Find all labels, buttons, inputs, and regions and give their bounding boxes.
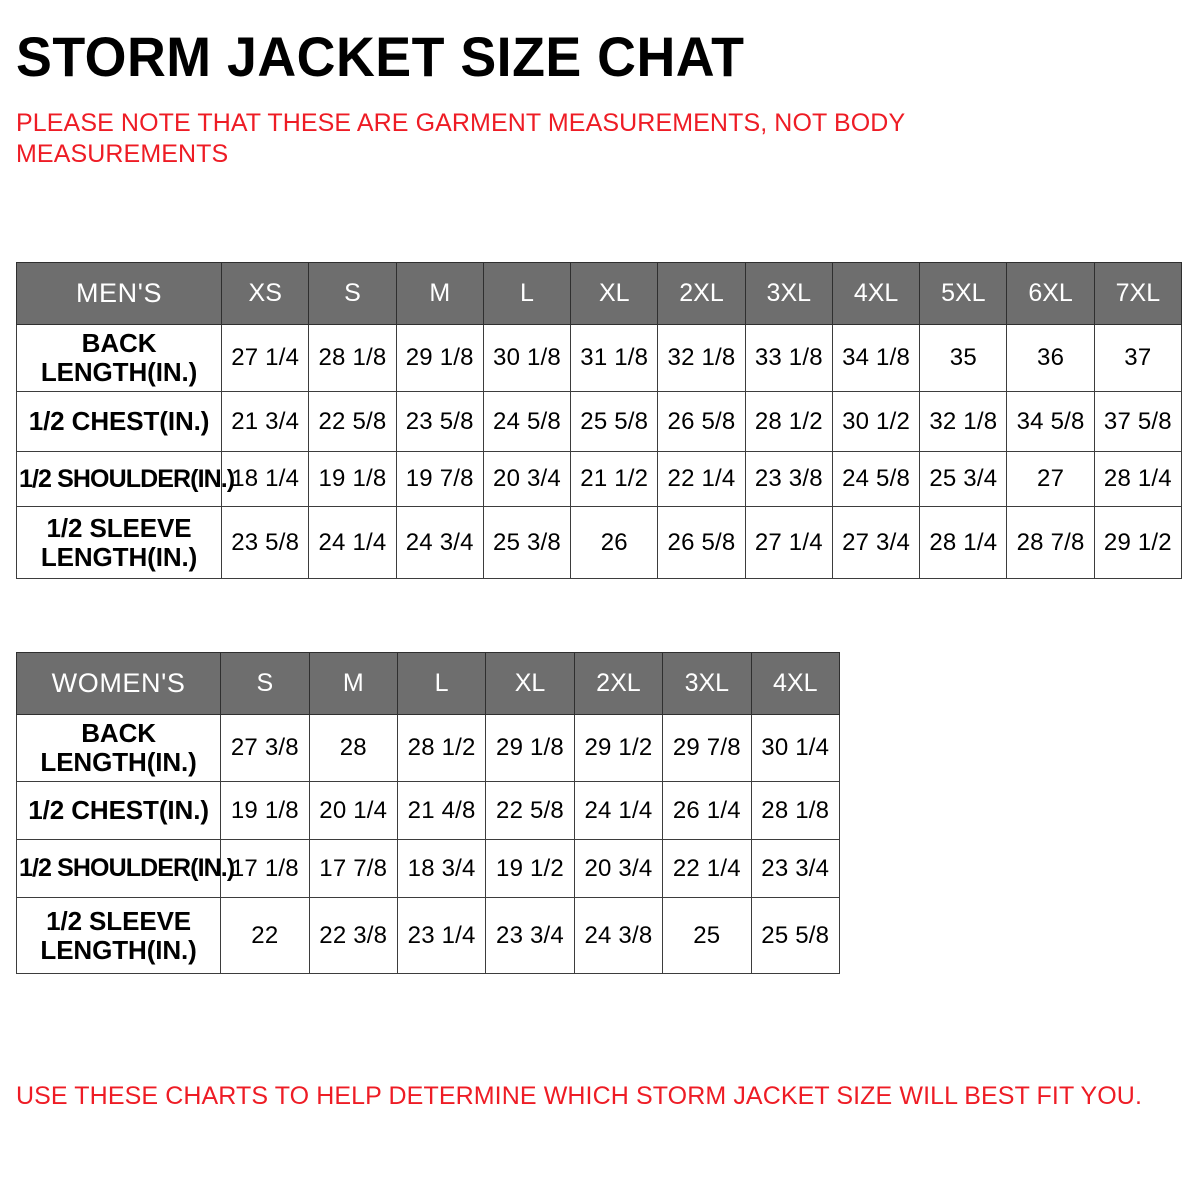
cell-mens-back-xs: 27 1/4 bbox=[222, 325, 309, 392]
cell-mens-back-l: 30 1/8 bbox=[483, 325, 570, 392]
cell-mens-sleeve-7xl: 29 1/2 bbox=[1094, 507, 1181, 579]
mens-header-size-2xl: 2XL bbox=[658, 263, 745, 325]
cell-womens-sleeve-4xl: 25 5/8 bbox=[751, 898, 840, 974]
table-row: BACK LENGTH(IN.) 27 3/8 28 28 1/2 29 1/8… bbox=[17, 715, 840, 782]
row-label-line-2: LENGTH(IN.) bbox=[19, 358, 219, 387]
cell-mens-back-2xl: 32 1/8 bbox=[658, 325, 745, 392]
cell-mens-shoulder-3xl: 23 3/8 bbox=[745, 452, 832, 507]
mens-header-size-xs: XS bbox=[222, 263, 309, 325]
cell-womens-back-l: 28 1/2 bbox=[397, 715, 485, 782]
table-header-row: WOMEN'S S M L XL 2XL 3XL 4XL bbox=[17, 653, 840, 715]
cell-mens-chest-4xl: 30 1/2 bbox=[832, 392, 919, 452]
cell-mens-chest-l: 24 5/8 bbox=[483, 392, 570, 452]
mens-header-size-m: M bbox=[396, 263, 483, 325]
cell-mens-sleeve-s: 24 1/4 bbox=[309, 507, 396, 579]
cell-mens-back-xl: 31 1/8 bbox=[571, 325, 658, 392]
mens-size-table: MEN'S XS S M L XL 2XL 3XL 4XL 5XL 6XL 7X… bbox=[16, 262, 1182, 579]
cell-mens-back-7xl: 37 bbox=[1094, 325, 1181, 392]
table-row: 1/2 CHEST(IN.) 21 3/4 22 5/8 23 5/8 24 5… bbox=[17, 392, 1182, 452]
mens-header-size-6xl: 6XL bbox=[1007, 263, 1094, 325]
cell-womens-back-4xl: 30 1/4 bbox=[751, 715, 840, 782]
cell-mens-chest-s: 22 5/8 bbox=[309, 392, 396, 452]
cell-mens-shoulder-xs: 18 1/4 bbox=[222, 452, 309, 507]
page-title: STORM JACKET SIZE CHAT bbox=[16, 0, 1137, 88]
cell-womens-sleeve-2xl: 24 3/8 bbox=[574, 898, 662, 974]
mens-table-header: MEN'S XS S M L XL 2XL 3XL 4XL 5XL 6XL 7X… bbox=[17, 263, 1182, 325]
cell-womens-chest-l: 21 4/8 bbox=[397, 782, 485, 840]
cell-mens-shoulder-s: 19 1/8 bbox=[309, 452, 396, 507]
row-label-half-shoulder: 1/2 SHOULDER(IN.) bbox=[17, 452, 222, 507]
womens-header-size-l: L bbox=[397, 653, 485, 715]
row-label-half-sleeve-length: 1/2 SLEEVE LENGTH(IN.) bbox=[17, 507, 222, 579]
cell-mens-chest-5xl: 32 1/8 bbox=[920, 392, 1007, 452]
cell-womens-sleeve-xl: 23 3/4 bbox=[486, 898, 574, 974]
mens-table-body: BACK LENGTH(IN.) 27 1/4 28 1/8 29 1/8 30… bbox=[17, 325, 1182, 579]
cell-mens-chest-xs: 21 3/4 bbox=[222, 392, 309, 452]
row-label-half-shoulder: 1/2 SHOULDER(IN.) bbox=[17, 840, 221, 898]
cell-mens-back-6xl: 36 bbox=[1007, 325, 1094, 392]
cell-mens-back-s: 28 1/8 bbox=[309, 325, 396, 392]
womens-header-size-3xl: 3XL bbox=[663, 653, 751, 715]
cell-mens-sleeve-3xl: 27 1/4 bbox=[745, 507, 832, 579]
womens-table-header: WOMEN'S S M L XL 2XL 3XL 4XL bbox=[17, 653, 840, 715]
cell-mens-chest-3xl: 28 1/2 bbox=[745, 392, 832, 452]
cell-mens-sleeve-5xl: 28 1/4 bbox=[920, 507, 1007, 579]
cell-womens-shoulder-2xl: 20 3/4 bbox=[574, 840, 662, 898]
cell-womens-shoulder-l: 18 3/4 bbox=[397, 840, 485, 898]
cell-mens-shoulder-m: 19 7/8 bbox=[396, 452, 483, 507]
cell-mens-chest-m: 23 5/8 bbox=[396, 392, 483, 452]
row-label-half-chest: 1/2 CHEST(IN.) bbox=[17, 392, 222, 452]
cell-mens-chest-xl: 25 5/8 bbox=[571, 392, 658, 452]
cell-mens-sleeve-xl: 26 bbox=[571, 507, 658, 579]
row-label-half-sleeve-length: 1/2 SLEEVE LENGTH(IN.) bbox=[17, 898, 221, 974]
cell-mens-back-3xl: 33 1/8 bbox=[745, 325, 832, 392]
row-label-back-length: BACK LENGTH(IN.) bbox=[17, 715, 221, 782]
row-label-line-1: 1/2 SLEEVE bbox=[19, 907, 218, 936]
cell-womens-chest-2xl: 24 1/4 bbox=[574, 782, 662, 840]
cell-womens-shoulder-xl: 19 1/2 bbox=[486, 840, 574, 898]
womens-table-body: BACK LENGTH(IN.) 27 3/8 28 28 1/2 29 1/8… bbox=[17, 715, 840, 974]
row-label-line-2: LENGTH(IN.) bbox=[19, 936, 218, 965]
mens-header-size-3xl: 3XL bbox=[745, 263, 832, 325]
mens-header-size-5xl: 5XL bbox=[920, 263, 1007, 325]
cell-mens-shoulder-l: 20 3/4 bbox=[483, 452, 570, 507]
cell-mens-shoulder-xl: 21 1/2 bbox=[571, 452, 658, 507]
cell-mens-back-m: 29 1/8 bbox=[396, 325, 483, 392]
womens-header-size-xl: XL bbox=[486, 653, 574, 715]
cell-womens-back-2xl: 29 1/2 bbox=[574, 715, 662, 782]
cell-mens-chest-7xl: 37 5/8 bbox=[1094, 392, 1181, 452]
womens-header-size-4xl: 4XL bbox=[751, 653, 840, 715]
table-row: BACK LENGTH(IN.) 27 1/4 28 1/8 29 1/8 30… bbox=[17, 325, 1182, 392]
row-label-line-1: BACK bbox=[19, 719, 218, 748]
cell-womens-sleeve-m: 22 3/8 bbox=[309, 898, 397, 974]
mens-size-table-container: MEN'S XS S M L XL 2XL 3XL 4XL 5XL 6XL 7X… bbox=[16, 262, 1182, 579]
womens-size-table: WOMEN'S S M L XL 2XL 3XL 4XL BACK LENGTH… bbox=[16, 652, 840, 974]
cell-womens-chest-s: 19 1/8 bbox=[221, 782, 309, 840]
cell-mens-sleeve-2xl: 26 5/8 bbox=[658, 507, 745, 579]
row-label-back-length: BACK LENGTH(IN.) bbox=[17, 325, 222, 392]
cell-womens-back-m: 28 bbox=[309, 715, 397, 782]
cell-mens-sleeve-6xl: 28 7/8 bbox=[1007, 507, 1094, 579]
cell-womens-shoulder-s: 17 1/8 bbox=[221, 840, 309, 898]
cell-mens-sleeve-xs: 23 5/8 bbox=[222, 507, 309, 579]
cell-womens-sleeve-3xl: 25 bbox=[663, 898, 751, 974]
table-row: 1/2 SLEEVE LENGTH(IN.) 22 22 3/8 23 1/4 … bbox=[17, 898, 840, 974]
row-label-half-chest: 1/2 CHEST(IN.) bbox=[17, 782, 221, 840]
cell-mens-back-4xl: 34 1/8 bbox=[832, 325, 919, 392]
mens-header-size-7xl: 7XL bbox=[1094, 263, 1181, 325]
mens-header-size-l: L bbox=[483, 263, 570, 325]
row-label-line-2: LENGTH(IN.) bbox=[19, 543, 219, 572]
cell-mens-shoulder-5xl: 25 3/4 bbox=[920, 452, 1007, 507]
cell-mens-sleeve-l: 25 3/8 bbox=[483, 507, 570, 579]
cell-womens-sleeve-l: 23 1/4 bbox=[397, 898, 485, 974]
cell-mens-shoulder-4xl: 24 5/8 bbox=[832, 452, 919, 507]
cell-womens-chest-3xl: 26 1/4 bbox=[663, 782, 751, 840]
womens-size-table-container: WOMEN'S S M L XL 2XL 3XL 4XL BACK LENGTH… bbox=[16, 652, 840, 974]
mens-header-label: MEN'S bbox=[17, 263, 222, 325]
cell-womens-shoulder-4xl: 23 3/4 bbox=[751, 840, 840, 898]
cell-mens-sleeve-4xl: 27 3/4 bbox=[832, 507, 919, 579]
row-label-line-1: 1/2 SLEEVE bbox=[19, 514, 219, 543]
cell-womens-shoulder-m: 17 7/8 bbox=[309, 840, 397, 898]
womens-header-size-m: M bbox=[309, 653, 397, 715]
mens-header-size-s: S bbox=[309, 263, 396, 325]
table-row: 1/2 CHEST(IN.) 19 1/8 20 1/4 21 4/8 22 5… bbox=[17, 782, 840, 840]
cell-womens-back-xl: 29 1/8 bbox=[486, 715, 574, 782]
table-header-row: MEN'S XS S M L XL 2XL 3XL 4XL 5XL 6XL 7X… bbox=[17, 263, 1182, 325]
table-row: 1/2 SHOULDER(IN.) 18 1/4 19 1/8 19 7/8 2… bbox=[17, 452, 1182, 507]
cell-womens-chest-m: 20 1/4 bbox=[309, 782, 397, 840]
womens-header-size-2xl: 2XL bbox=[574, 653, 662, 715]
mens-header-size-xl: XL bbox=[571, 263, 658, 325]
cell-womens-chest-xl: 22 5/8 bbox=[486, 782, 574, 840]
garment-measurement-note: PLEASE NOTE THAT THESE ARE GARMENT MEASU… bbox=[16, 88, 966, 170]
cell-womens-sleeve-s: 22 bbox=[221, 898, 309, 974]
mens-header-size-4xl: 4XL bbox=[832, 263, 919, 325]
womens-header-size-s: S bbox=[221, 653, 309, 715]
cell-mens-chest-2xl: 26 5/8 bbox=[658, 392, 745, 452]
table-row: 1/2 SHOULDER(IN.) 17 1/8 17 7/8 18 3/4 1… bbox=[17, 840, 840, 898]
row-label-line-2: LENGTH(IN.) bbox=[19, 748, 218, 777]
row-label-line-1: BACK bbox=[19, 329, 219, 358]
cell-mens-shoulder-6xl: 27 bbox=[1007, 452, 1094, 507]
womens-header-label: WOMEN'S bbox=[17, 653, 221, 715]
cell-mens-shoulder-2xl: 22 1/4 bbox=[658, 452, 745, 507]
cell-mens-back-5xl: 35 bbox=[920, 325, 1007, 392]
cell-womens-back-3xl: 29 7/8 bbox=[663, 715, 751, 782]
cell-mens-chest-6xl: 34 5/8 bbox=[1007, 392, 1094, 452]
fit-guidance-note: USE THESE CHARTS TO HELP DETERMINE WHICH… bbox=[16, 1081, 1142, 1111]
table-row: 1/2 SLEEVE LENGTH(IN.) 23 5/8 24 1/4 24 … bbox=[17, 507, 1182, 579]
cell-mens-shoulder-7xl: 28 1/4 bbox=[1094, 452, 1181, 507]
cell-womens-chest-4xl: 28 1/8 bbox=[751, 782, 840, 840]
cell-womens-back-s: 27 3/8 bbox=[221, 715, 309, 782]
cell-womens-shoulder-3xl: 22 1/4 bbox=[663, 840, 751, 898]
cell-mens-sleeve-m: 24 3/4 bbox=[396, 507, 483, 579]
size-chart-page: STORM JACKET SIZE CHAT PLEASE NOTE THAT … bbox=[0, 0, 1200, 1200]
